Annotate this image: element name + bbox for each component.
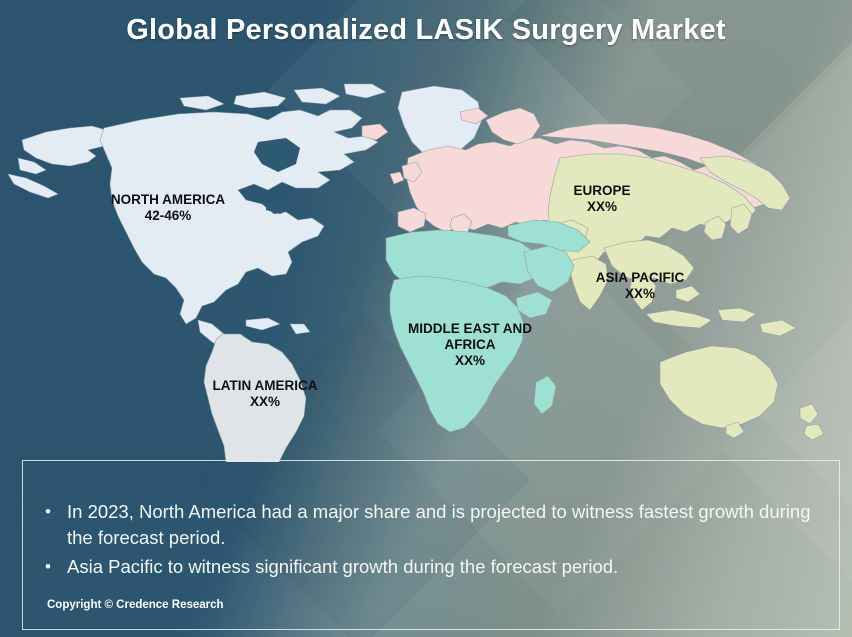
- region-value: XX%: [527, 199, 677, 215]
- bullet-text: In 2023, North America had a major share…: [67, 499, 815, 552]
- map-label-europe: EUROPE XX%: [527, 183, 677, 215]
- region-value: XX%: [565, 286, 715, 302]
- region-name: NORTH AMERICA: [68, 192, 268, 208]
- region-name: MIDDLE EAST AND: [382, 321, 558, 337]
- page-title: Global Personalized LASIK Surgery Market: [0, 14, 852, 47]
- map-label-north-america: NORTH AMERICA 42-46%: [68, 192, 268, 224]
- bullet-marker: •: [45, 499, 67, 552]
- bullet-list: • In 2023, North America had a major sha…: [45, 499, 815, 582]
- notes-box: • In 2023, North America had a major sha…: [22, 460, 840, 630]
- list-item: • Asia Pacific to witness significant gr…: [45, 554, 815, 580]
- map-label-asia-pacific: ASIA PACIFIC XX%: [565, 270, 715, 302]
- world-map: NORTH AMERICA 42-46% EUROPE XX% ASIA PAC…: [0, 62, 852, 462]
- region-name: LATIN AMERICA: [185, 378, 345, 394]
- bullet-text: Asia Pacific to witness significant grow…: [67, 554, 815, 580]
- infographic-slide: Global Personalized LASIK Surgery Market: [0, 0, 852, 637]
- region-value: 42-46%: [68, 208, 268, 224]
- map-label-latin-america: LATIN AMERICA XX%: [185, 378, 345, 410]
- region-name: EUROPE: [527, 183, 677, 199]
- region-value: XX%: [185, 394, 345, 410]
- copyright-notice: Copyright © Credence Research: [47, 599, 224, 611]
- region-name: ASIA PACIFIC: [565, 270, 715, 286]
- list-item: • In 2023, North America had a major sha…: [45, 499, 815, 552]
- region-name-line2: AFRICA: [382, 337, 558, 353]
- map-label-middle-east-and-africa: MIDDLE EAST AND AFRICA XX%: [382, 321, 558, 369]
- region-value: XX%: [382, 353, 558, 369]
- bullet-marker: •: [45, 554, 67, 580]
- world-map-svg: [0, 62, 852, 462]
